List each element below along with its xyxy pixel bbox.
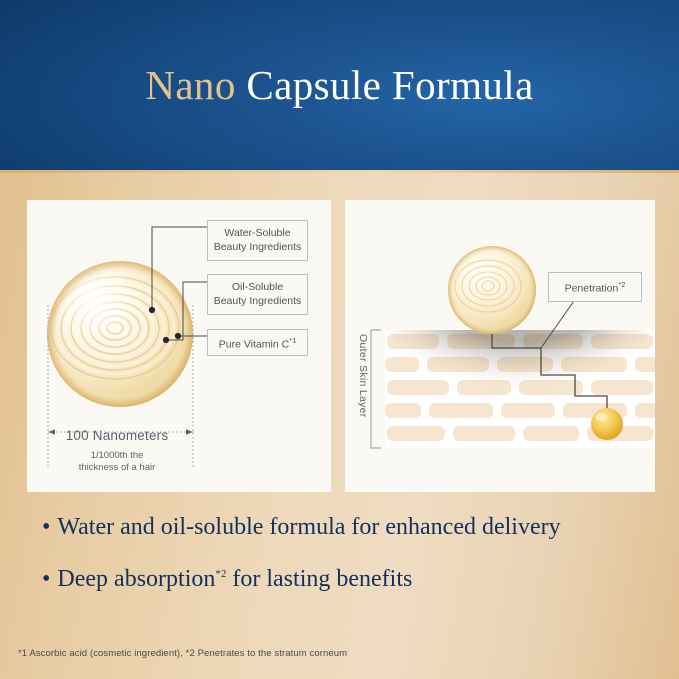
bullet-text-2-tail: for lasting benefits: [226, 566, 412, 592]
penetration-graphic: [345, 200, 655, 492]
callout-water-line1: Water-Soluble: [224, 227, 290, 239]
callout-oil-soluble[interactable]: Oil-Soluble Beauty Ingredients: [207, 274, 308, 315]
callout-oil-line2: Beauty Ingredients: [214, 295, 302, 307]
callout-penetration-footnote-marker: *2: [618, 280, 625, 289]
infographic-root: Nano Capsule Formula: [0, 0, 679, 679]
dimension-sublabel-line2: thickness of a hair: [79, 462, 156, 473]
skin-layer-bracket: [371, 330, 381, 448]
bullet-text-1: Water and oil-soluble formula for enhanc…: [57, 514, 560, 540]
dimension-sublabel: 1/1000th the thickness of a hair: [47, 450, 187, 474]
callout-vitc-label: Pure Vitamin C: [219, 338, 289, 350]
callout-oil-line1: Oil-Soluble: [232, 281, 283, 293]
page-title-white: Capsule Formula: [246, 61, 533, 109]
callout-penetration[interactable]: Penetration*2: [548, 272, 642, 302]
outer-skin-layer-label: Outer Skin Layer: [355, 334, 369, 444]
list-item: •Water and oil-soluble formula for enhan…: [42, 512, 662, 542]
callout-vitc-footnote-marker: *1: [289, 336, 296, 345]
callout-pure-vitamin-c[interactable]: Pure Vitamin C*1: [207, 329, 308, 356]
footnote-text: *1 Ascorbic acid (cosmetic ingredient), …: [18, 648, 347, 659]
page-title: Nano Capsule Formula: [0, 0, 679, 170]
list-item: •Deep absorption*2 for lasting benefits: [42, 559, 662, 594]
callout-penetration-label: Penetration: [565, 283, 619, 295]
bullet-dot-icon: •: [42, 566, 50, 592]
page-title-gold: Nano: [145, 61, 235, 109]
callout-water-line2: Beauty Ingredients: [214, 241, 302, 253]
dimension-label: 100 Nanometers: [47, 428, 187, 443]
dimension-sublabel-line1: 1/1000th the: [91, 450, 144, 461]
bullet-text-2: Deep absorption: [57, 566, 215, 592]
bullet-dot-icon: •: [42, 514, 50, 540]
panel-penetration-diagram: [345, 200, 655, 492]
callout-water-soluble[interactable]: Water-Soluble Beauty Ingredients: [207, 220, 308, 261]
header-banner: Nano Capsule Formula: [0, 0, 679, 170]
benefits-list: •Water and oil-soluble formula for enhan…: [42, 512, 662, 611]
bullet-footnote-marker: *2: [215, 568, 226, 580]
